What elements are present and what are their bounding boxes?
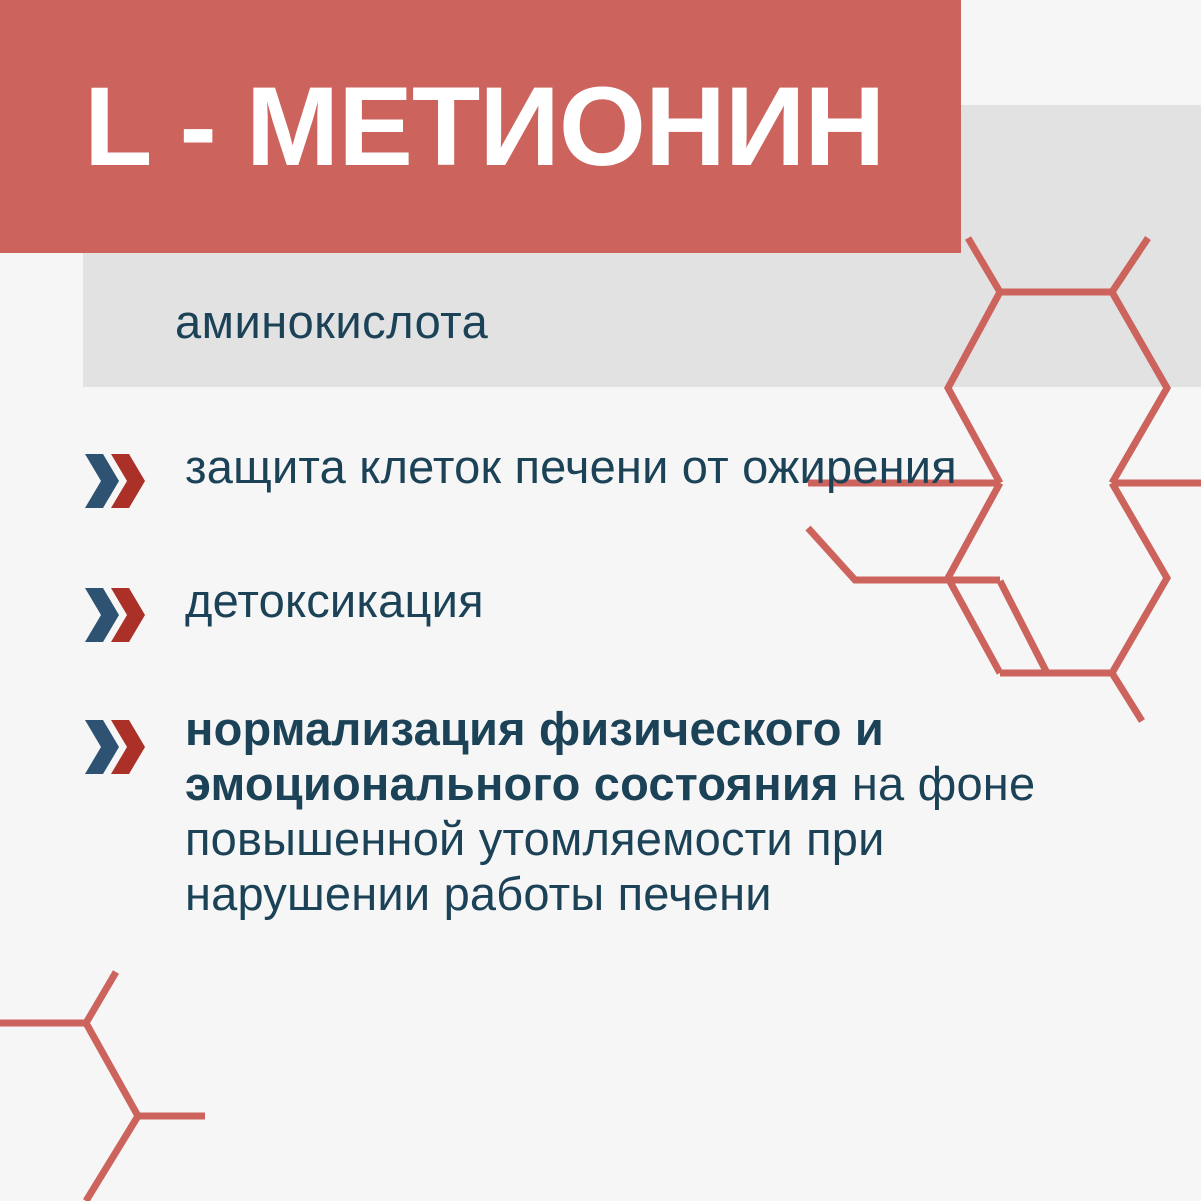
- double-chevron-icon: [83, 450, 145, 512]
- list-item-text: защита клеток печени от ожирения: [185, 440, 1143, 495]
- list-item: нормализация физического и эмоциональног…: [83, 702, 1143, 922]
- list-item-text: нормализация физического и эмоциональног…: [185, 702, 1143, 922]
- list-item-text-bold: нормализация физического и эмоциональног…: [185, 702, 884, 810]
- title-band: L - МЕТИОНИН: [0, 0, 961, 253]
- double-chevron-icon: [83, 716, 145, 778]
- page-title: L - МЕТИОНИН: [84, 71, 884, 183]
- poster-canvas: L - МЕТИОНИН аминокислота защита клеток …: [0, 0, 1201, 1201]
- list-item: детоксикация: [83, 574, 1143, 646]
- list-item: защита клеток печени от ожирения: [83, 440, 1143, 512]
- benefits-list: защита клеток печени от ожирения детокси…: [83, 440, 1143, 922]
- double-chevron-icon: [83, 584, 145, 646]
- hex-bl-top: [0, 972, 116, 1023]
- list-item-text: детоксикация: [185, 574, 1143, 629]
- subtitle: аминокислота: [175, 294, 488, 350]
- hex-bl-left: [86, 1023, 138, 1201]
